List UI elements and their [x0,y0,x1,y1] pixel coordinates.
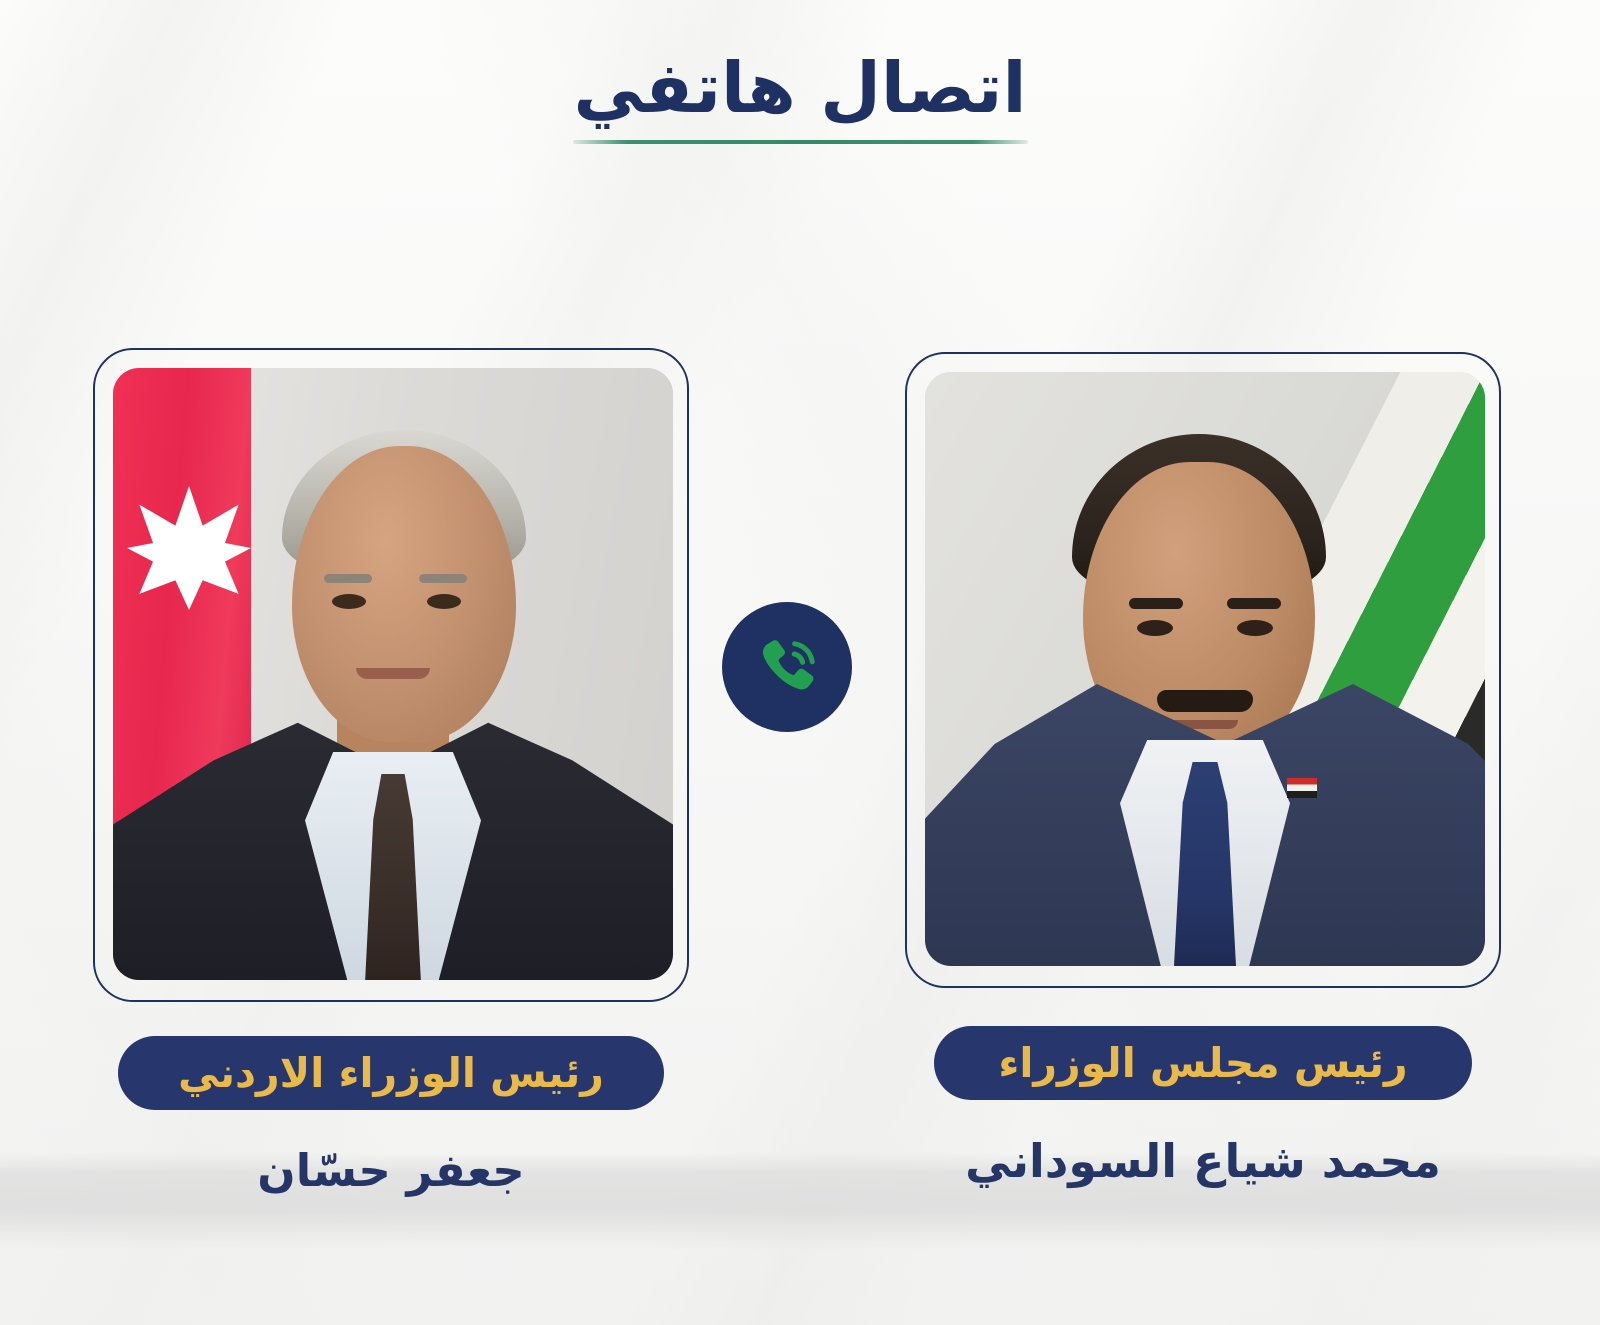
page-title: اتصال هاتفي [0,52,1600,126]
person-card-iraq-pm: رئيس مجلس الوزراء محمد شياع السوداني [905,352,1501,1188]
portrait-photo-iraq-pm [925,372,1485,966]
eyebrow-right [1227,598,1281,609]
role-badge-jordan-pm: رئيس الوزراء الاردني [118,1036,664,1110]
eyebrow-left [1129,598,1183,609]
eye-right [1237,620,1273,636]
moustache [1157,690,1253,712]
poster-stage: اتصال هاتفي رئيس ا [0,0,1600,1325]
role-badge-iraq-pm: رئيس مجلس الوزراء [934,1026,1472,1100]
face [292,446,516,742]
person-name-iraq-pm: محمد شياع السوداني [905,1134,1501,1188]
title-underline [573,140,1028,144]
phone-call-icon [722,602,852,732]
eye-left [332,594,366,609]
eye-left [1137,620,1173,636]
eyebrow-left [324,574,372,583]
eyebrow-right [419,574,467,583]
photo-frame [93,348,689,1002]
page-header: اتصال هاتفي [0,52,1600,144]
mouth [356,668,430,679]
iraq-flag-lapel-pin-icon [1287,778,1317,798]
portrait-photo-jordan-pm [113,368,673,980]
person-name-jordan-pm: جعفر حسّان [93,1144,689,1197]
photo-frame [905,352,1501,988]
jordan-flag-star-icon [127,486,251,610]
eye-right [427,594,461,609]
person-card-jordan-pm: رئيس الوزراء الاردني جعفر حسّان [93,348,689,1197]
